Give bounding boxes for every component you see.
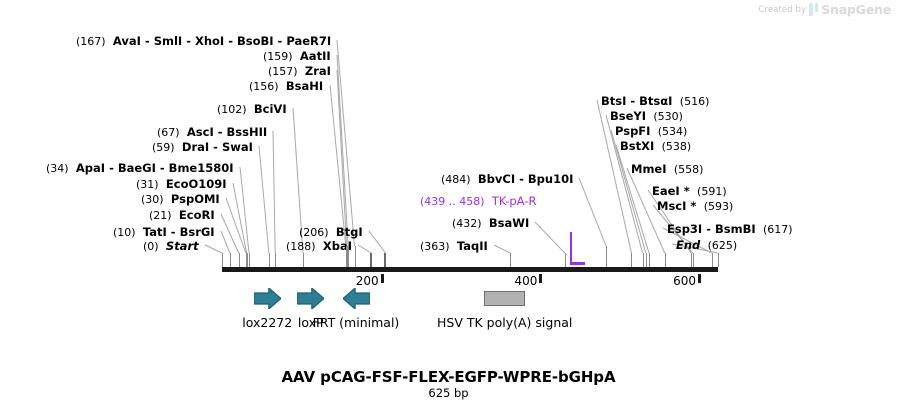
- cut-site-tick-617: [712, 253, 713, 267]
- arrow-shape: [297, 288, 324, 309]
- feature-name-f-frt: FRT (minimal): [313, 315, 400, 330]
- cut-site-tick-432: [565, 253, 566, 267]
- cut-site-tick-0: [222, 253, 223, 267]
- cut-site-tick-538: [649, 253, 650, 267]
- cut-site-tick-516: [631, 253, 632, 267]
- cut-site-tick-363: [510, 253, 511, 267]
- cut-site-tick-59: [269, 253, 270, 267]
- cut-site-tick-530: [643, 253, 644, 267]
- cut-site-tick-484: [606, 246, 607, 267]
- feature-box-f-tkpa[interactable]: [484, 291, 525, 306]
- arrow-shape: [254, 288, 281, 309]
- ruler-tick-200: [381, 274, 384, 283]
- feature-name-f-tkpa: HSV TK poly(A) signal: [437, 315, 572, 330]
- page-title: AAV pCAG-FSF-FLEX-EGFP-WPRE-bGHpA: [0, 368, 897, 386]
- ruler-tick-400: [539, 274, 542, 283]
- cut-site-tick-159: [348, 246, 349, 267]
- cut-site-tick-167: [355, 246, 356, 267]
- cut-site-tick-558: [665, 253, 666, 267]
- tkpar-feature-leader[interactable]: [570, 232, 572, 264]
- sequence-backbone: [222, 267, 718, 272]
- cut-site-tick-188: [370, 253, 372, 267]
- ruler-label-600: 600: [673, 274, 696, 288]
- ruler-tick-600: [698, 274, 701, 283]
- feature-arrow-f-lox2272[interactable]: [254, 288, 281, 309]
- ruler-label-400: 400: [514, 274, 537, 288]
- cut-site-tick-34: [249, 253, 250, 267]
- feature-name-f-lox2272: lox2272: [242, 315, 292, 330]
- cut-site-tick-534: [646, 253, 647, 267]
- cut-site-tick-593: [693, 253, 694, 267]
- ruler-label-200: 200: [356, 274, 379, 288]
- cut-site-tick-31: [247, 253, 248, 267]
- cut-site-tick-625: [718, 253, 719, 267]
- cut-site-tick-206: [384, 253, 386, 267]
- cut-site-tick-10: [230, 253, 231, 267]
- cut-site-tick-102: [303, 253, 304, 267]
- feature-arrow-f-loxp[interactable]: [297, 288, 324, 309]
- arrow-shape: [343, 288, 370, 309]
- cut-site-tick-67: [275, 253, 276, 267]
- page-subtitle: 625 bp: [0, 386, 897, 400]
- feature-arrow-f-frt[interactable]: [343, 288, 370, 309]
- tkpar-feature-bar[interactable]: [570, 262, 585, 265]
- sequence-map: 200400600 lox2272loxPFRT (minimal)HSV TK…: [0, 0, 897, 408]
- cut-site-tick-21: [239, 253, 240, 267]
